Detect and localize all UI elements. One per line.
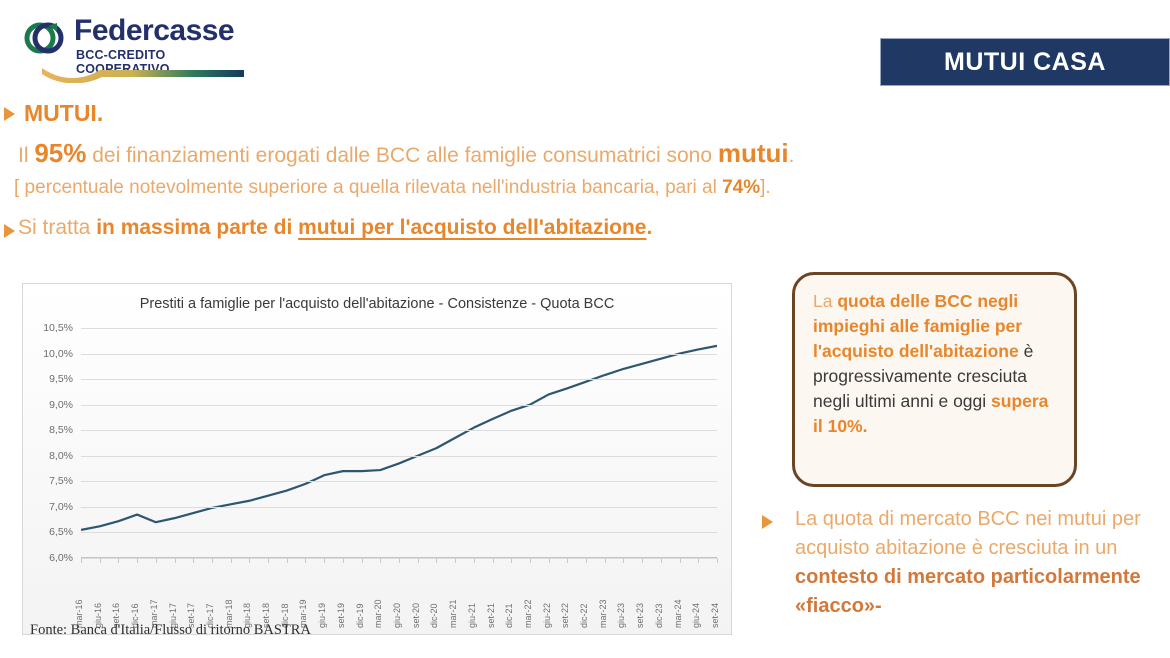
chart-x-tick-label: giu-23 bbox=[616, 603, 626, 628]
chart-x-tick-mark bbox=[249, 558, 250, 563]
chart-x-tick-mark bbox=[436, 558, 437, 563]
b2-mid: dei finanziamenti erogati dalle BCC alle… bbox=[86, 144, 717, 167]
chart-x-tick-label: dic-19 bbox=[355, 603, 365, 628]
bullet-arrow-icon-3 bbox=[762, 515, 773, 529]
chart-x-tick-label: dic-23 bbox=[654, 603, 664, 628]
chart-x-tick-label: mar-21 bbox=[448, 599, 458, 628]
chart-x-tick-mark bbox=[362, 558, 363, 563]
b3-pre: [ percentuale notevolmente superiore a q… bbox=[14, 177, 722, 198]
chart-y-tick-label: 10,5% bbox=[43, 322, 73, 334]
chart-gridline: 7,0% bbox=[81, 507, 717, 508]
bullet-line-3: [ percentuale notevolmente superiore a q… bbox=[14, 177, 771, 199]
chart-x-tick-mark bbox=[100, 558, 101, 563]
chart-x-tick-mark bbox=[605, 558, 606, 563]
chart-x-tick-label: set-22 bbox=[560, 603, 570, 628]
chart-gridline: 8,0% bbox=[81, 456, 717, 457]
chart-gridline: 10,0% bbox=[81, 354, 717, 355]
b4-end: . bbox=[647, 216, 653, 239]
chart-x-tick-mark bbox=[717, 558, 718, 563]
chart-x-tick-mark bbox=[680, 558, 681, 563]
chart-x-tick-mark bbox=[343, 558, 344, 563]
chart-y-tick-label: 6,0% bbox=[49, 552, 73, 564]
chart-x-tick-mark bbox=[455, 558, 456, 563]
chart-x-tick-mark bbox=[380, 558, 381, 563]
chart-x-tick-mark bbox=[474, 558, 475, 563]
chart-gridline: 9,0% bbox=[81, 405, 717, 406]
chart-plot-area: 10,5%10,0%9,5%9,0%8,5%8,0%7,5%7,0%6,5%6,… bbox=[81, 328, 717, 558]
chart-x-tick-label: mar-22 bbox=[523, 599, 533, 628]
br-seg-1: La quota di mercato BCC nei mutui per ac… bbox=[795, 508, 1141, 559]
chart-gridline: 9,5% bbox=[81, 379, 717, 380]
chart-x-tick-mark bbox=[698, 558, 699, 563]
bullet-arrow-icon-1 bbox=[4, 107, 15, 121]
chart-x-tick-mark bbox=[642, 558, 643, 563]
chart-gridline: 10,5% bbox=[81, 328, 717, 329]
chart-line-series bbox=[81, 328, 717, 558]
chart-gridline: 6,5% bbox=[81, 532, 717, 533]
chart-gridline: 8,5% bbox=[81, 430, 717, 431]
chart-x-tick-label: dic-22 bbox=[579, 603, 589, 628]
chart-x-tick-mark bbox=[231, 558, 232, 563]
chart-panel: Prestiti a famiglie per l'acquisto dell'… bbox=[22, 283, 732, 635]
chart-y-tick-label: 7,5% bbox=[49, 475, 73, 487]
b2-percentage: 95% bbox=[34, 138, 86, 168]
callout-box: La quota delle BCC negli impieghi alle f… bbox=[792, 272, 1077, 487]
bullet-1-label: MUTUI. bbox=[24, 100, 103, 126]
b4-underline: mutui per l'acquisto dell'abitazione bbox=[298, 216, 646, 239]
bullet-line-2: Il 95% dei finanziamenti erogati dalle B… bbox=[18, 138, 794, 169]
chart-x-tick-mark bbox=[137, 558, 138, 563]
chart-y-tick-label: 9,0% bbox=[49, 399, 73, 411]
bottom-right-text: La quota di mercato BCC nei mutui per ac… bbox=[795, 505, 1155, 621]
chart-title: Prestiti a famiglie per l'acquisto dell'… bbox=[23, 296, 731, 312]
b4-bold: in massima parte di bbox=[96, 216, 298, 239]
chart-x-tick-label: set-24 bbox=[710, 603, 720, 628]
chart-x-tick-label: dic-21 bbox=[504, 603, 514, 628]
federcasse-mark-icon bbox=[24, 18, 68, 58]
chart-x-tick-mark bbox=[530, 558, 531, 563]
chart-x-tick-mark bbox=[193, 558, 194, 563]
chart-y-tick-label: 9,5% bbox=[49, 373, 73, 385]
brand-logo: Federcasse BCC-CREDITO COOPERATIVO bbox=[24, 10, 254, 82]
chart-x-tick-label: set-20 bbox=[411, 603, 421, 628]
chart-x-tick-label: set-19 bbox=[336, 603, 346, 628]
chart-x-tick-label: mar-20 bbox=[373, 599, 383, 628]
chart-x-tick-mark bbox=[268, 558, 269, 563]
chart-x-tick-label: giu-19 bbox=[317, 603, 327, 628]
bullet-line-4: Si tratta in massima parte di mutui per … bbox=[18, 216, 652, 240]
chart-x-tick-label: set-23 bbox=[635, 603, 645, 628]
chart-x-tick-mark bbox=[212, 558, 213, 563]
chart-x-tick-mark bbox=[567, 558, 568, 563]
chart-x-tick-label: giu-20 bbox=[392, 603, 402, 628]
b3-percentage: 74% bbox=[722, 177, 760, 198]
page-title: MUTUI CASA bbox=[944, 48, 1106, 77]
chart-x-tick-mark bbox=[81, 558, 82, 563]
b2-end: . bbox=[789, 144, 795, 167]
chart-x-tick-mark bbox=[118, 558, 119, 563]
chart-x-tick-mark bbox=[418, 558, 419, 563]
chart-gridline: 7,5% bbox=[81, 481, 717, 482]
chart-x-tick-mark bbox=[175, 558, 176, 563]
chart-x-tick-label: mar-24 bbox=[673, 599, 683, 628]
b3-end: ]. bbox=[760, 177, 771, 198]
chart-x-tick-label: giu-24 bbox=[691, 603, 701, 628]
chart-y-tick-label: 10,0% bbox=[43, 348, 73, 360]
chart-y-tick-label: 7,0% bbox=[49, 501, 73, 513]
chart-source-note: Fonte: Banca d'Italia/Flusso di ritorno … bbox=[30, 622, 311, 639]
b4-pre: Si tratta bbox=[18, 216, 96, 239]
chart-x-tick-mark bbox=[305, 558, 306, 563]
chart-x-tick-mark bbox=[287, 558, 288, 563]
b2-pre: Il bbox=[18, 144, 34, 167]
page-title-box: MUTUI CASA bbox=[880, 38, 1170, 86]
br-seg-2-bold: contesto di mercato particolarmente «fia… bbox=[795, 566, 1141, 617]
chart-x-tick-mark bbox=[549, 558, 550, 563]
callout-seg-2-highlight: quota delle BCC negli impieghi alle fami… bbox=[813, 291, 1022, 361]
chart-x-tick-label: giu-21 bbox=[467, 603, 477, 628]
b2-keyword: mutui bbox=[718, 138, 789, 168]
chart-x-tick-mark bbox=[511, 558, 512, 563]
callout-seg-1: La bbox=[813, 291, 837, 311]
chart-y-tick-label: 8,5% bbox=[49, 424, 73, 436]
chart-x-tick-mark bbox=[399, 558, 400, 563]
bullet-line-1: MUTUI. bbox=[24, 100, 103, 127]
brand-swoosh-icon bbox=[42, 67, 244, 83]
chart-data-line bbox=[81, 346, 717, 530]
chart-x-tick-mark bbox=[493, 558, 494, 563]
chart-x-tick-label: mar-23 bbox=[598, 599, 608, 628]
chart-x-tick-mark bbox=[156, 558, 157, 563]
chart-x-tick-label: dic-20 bbox=[429, 603, 439, 628]
chart-x-tick-mark bbox=[586, 558, 587, 563]
chart-x-tick-label: set-21 bbox=[486, 603, 496, 628]
chart-y-tick-label: 6,5% bbox=[49, 526, 73, 538]
brand-name: Federcasse bbox=[74, 14, 234, 48]
chart-x-tick-mark bbox=[623, 558, 624, 563]
bullet-arrow-icon-2 bbox=[4, 224, 15, 238]
chart-x-tick-mark bbox=[661, 558, 662, 563]
chart-y-tick-label: 8,0% bbox=[49, 450, 73, 462]
chart-x-tick-label: giu-22 bbox=[542, 603, 552, 628]
chart-x-tick-mark bbox=[324, 558, 325, 563]
